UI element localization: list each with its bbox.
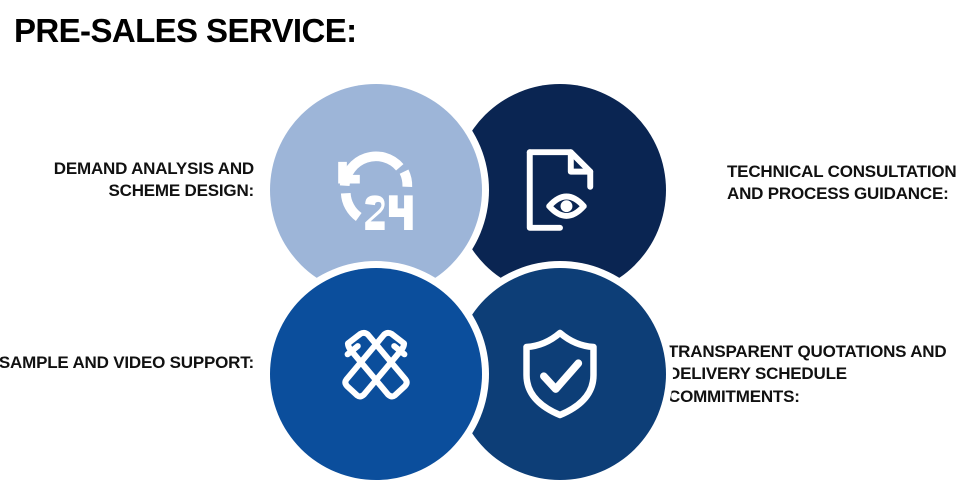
- shield-check-icon: [506, 320, 614, 428]
- clock-24-rotate-icon: [322, 136, 430, 244]
- infographic-canvas: PRE-SALES SERVICE:: [0, 0, 960, 498]
- label-sample-video-support: SAMPLE AND VIDEO SUPPORT:: [0, 352, 254, 374]
- circle-transparent-quotations[interactable]: [454, 268, 666, 480]
- circle-sample-video-support[interactable]: [270, 268, 482, 480]
- circle-technical-consultation[interactable]: [454, 84, 666, 296]
- document-eye-icon: [506, 136, 614, 244]
- crossed-pens-icon: [322, 320, 430, 428]
- label-transparent-quotations: TRANSPARENT QUOTATIONS AND DELIVERY SCHE…: [668, 341, 960, 408]
- label-demand-analysis: DEMAND ANALYSIS AND SCHEME DESIGN:: [0, 158, 254, 203]
- label-technical-consultation: TECHNICAL CONSULTATION AND PROCESS GUIDA…: [727, 161, 959, 206]
- circle-cluster: [262, 76, 674, 488]
- page-title: PRE-SALES SERVICE:: [14, 12, 357, 50]
- circle-demand-analysis[interactable]: [270, 84, 482, 296]
